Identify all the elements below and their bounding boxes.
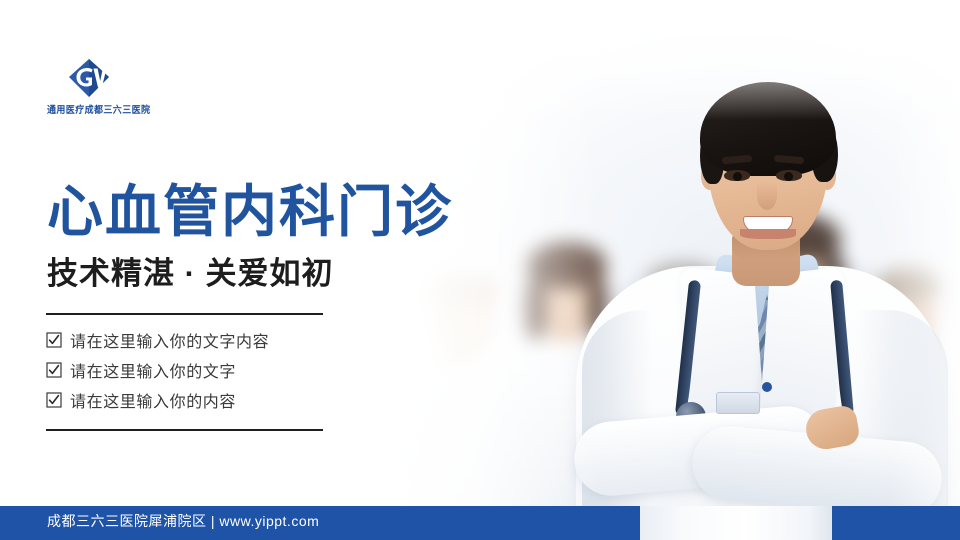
checked-checkbox-icon <box>46 362 62 378</box>
page-title: 心血管内科门诊 <box>47 182 453 242</box>
checked-checkbox-icon <box>46 392 62 408</box>
coat-pocket-badge <box>716 392 760 414</box>
list-item-label: 请在这里输入你的文字 <box>70 358 236 382</box>
list-item-label: 请在这里输入你的文字内容 <box>70 328 269 352</box>
list-item: 请在这里输入你的文字 <box>46 355 346 385</box>
lower-lip <box>740 229 796 239</box>
coat-pen-dot <box>762 382 772 392</box>
footer-text: 成都三六三医院犀浦院区 | www.yippt.com <box>47 511 319 531</box>
hospital-logo: 通用医疗成都三六三医院 <box>47 57 147 116</box>
bullet-list: 请在这里输入你的文字内容 请在这里输入你的文字 请在这里输入你的内容 <box>46 325 346 415</box>
list-item-label: 请在这里输入你的内容 <box>70 388 236 412</box>
pupil-left <box>733 172 742 181</box>
page-subtitle: 技术精湛 · 关爱如初 <box>47 255 334 292</box>
list-item: 请在这里输入你的文字内容 <box>46 325 346 355</box>
presentation-slide: 通用医疗成都三六三医院 心血管内科门诊 技术精湛 · 关爱如初 请在这里输入你的… <box>0 0 960 540</box>
diamond-gv-logo-icon <box>67 57 111 99</box>
divider-top <box>46 313 323 315</box>
pupil-right <box>784 172 793 181</box>
foreground-doctor <box>556 30 960 540</box>
nose <box>757 182 777 210</box>
list-item: 请在这里输入你的内容 <box>46 385 346 415</box>
doctor-hair <box>700 82 836 176</box>
logo-text: 通用医疗成都三六三医院 <box>47 103 147 117</box>
divider-bottom <box>46 429 323 431</box>
footer-coat-overlap <box>640 506 832 540</box>
checked-checkbox-icon <box>46 332 62 348</box>
